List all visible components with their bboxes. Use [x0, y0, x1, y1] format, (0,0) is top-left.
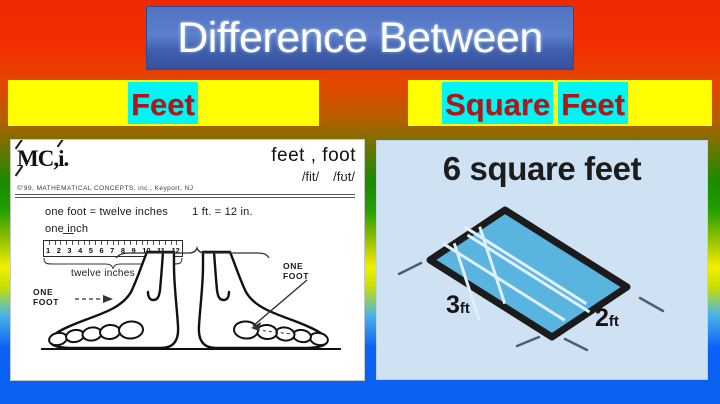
ruler-number: 6: [99, 245, 103, 256]
heading-bar-left: Feet: [8, 80, 319, 126]
slide-canvas: Difference Between Feet SquareFeet MC,i.…: [0, 0, 720, 404]
dimension-length-label: 3ft: [446, 291, 470, 320]
equation-symbols: 1 ft. = 12 in.: [192, 206, 253, 218]
ruler-number: 1: [46, 245, 50, 256]
ruler-number: 3: [67, 245, 71, 256]
right-illustration-panel: 6 square feet: [376, 140, 708, 380]
ruler-number: 8: [121, 245, 125, 256]
title-banner: Difference Between: [146, 6, 574, 70]
phonetic-feet: /fit/: [302, 169, 319, 184]
heading-bar-right: SquareFeet: [408, 80, 712, 126]
ruler-number: 11: [157, 245, 165, 256]
isometric-rectangle-diagram: [377, 141, 708, 380]
copyright-line: ©'99, MATHEMATICAL CONCEPTS, inc., Keypo…: [17, 185, 194, 192]
one-inch-underline: [63, 233, 74, 234]
dimension-length-unit: ft: [460, 300, 470, 317]
double-rule-divider: [15, 194, 355, 198]
ruler-number: 2: [57, 245, 61, 256]
dimension-length-value: 3: [446, 291, 460, 319]
equation-words: one foot = twelve inches: [45, 206, 168, 218]
page-title: Difference Between: [177, 17, 543, 60]
ruler-number: 9: [132, 245, 136, 256]
annotation-one-foot-left: ONEFOOT: [33, 288, 59, 307]
dimension-width-label: 2ft: [595, 304, 619, 333]
left-illustration-panel: MC,i. feet , foot /fit//fʊt/ ©'99, MATHE…: [10, 139, 365, 381]
mc-logo: MC,i.: [17, 146, 68, 172]
ruler-numbers: 1 2 3 4 5 6 7 8 9 10 11 12: [46, 245, 180, 256]
ruler-number: 4: [78, 245, 82, 256]
foot-equation-line: one foot = twelve inches1 ft. = 12 in.: [45, 206, 253, 218]
ruler-number: 7: [110, 245, 114, 256]
dimension-width-unit: ft: [609, 313, 619, 330]
phonetic-foot: /fʊt/: [333, 169, 355, 184]
phonetic-transcriptions: /fit//fʊt/: [288, 169, 355, 184]
annotation-one-foot-right: ONEFOOT: [283, 262, 309, 281]
twelve-inches-label: twelve inches: [71, 268, 135, 279]
heading-left-word: Feet: [128, 82, 198, 124]
ruler-number: 5: [89, 245, 93, 256]
dimension-width-value: 2: [595, 304, 609, 332]
annotation-two-feet: TWOFEET: [208, 250, 232, 269]
heading-right-word1: Square: [442, 82, 553, 124]
ruler-graphic: 1 2 3 4 5 6 7 8 9 10 11 12: [43, 240, 183, 257]
ruler-number: 10: [142, 245, 150, 256]
ruler-number: 12: [172, 245, 180, 256]
heading-right-word2: Feet: [558, 82, 628, 124]
dictionary-headword: feet , foot: [271, 145, 356, 167]
